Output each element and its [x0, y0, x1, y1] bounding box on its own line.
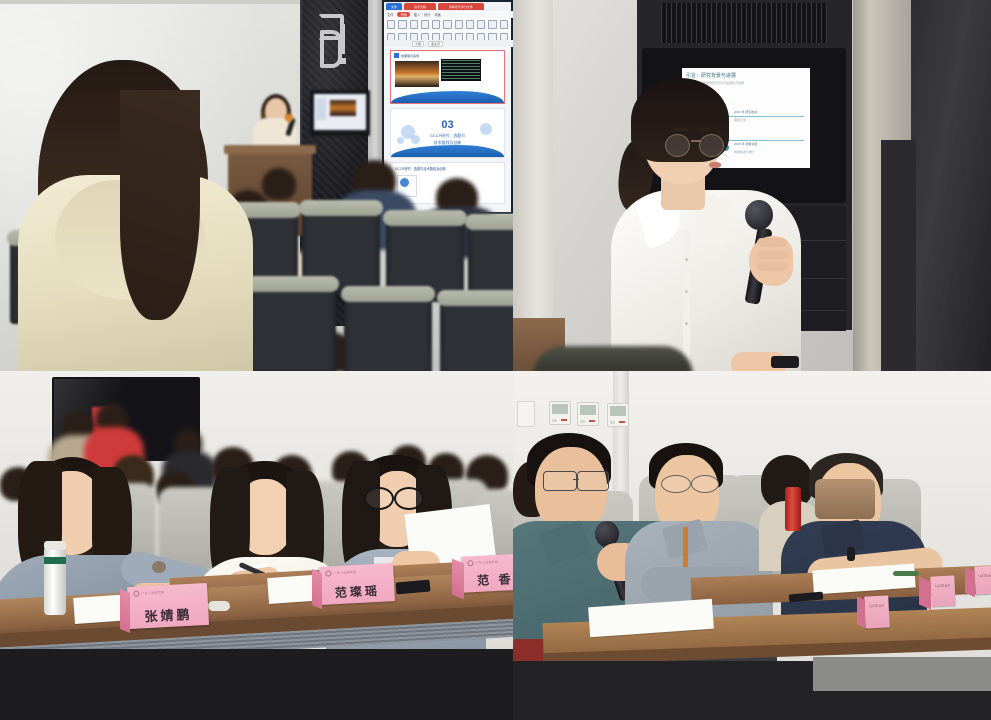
- thermostat-1-button[interactable]: [552, 419, 557, 422]
- ribbon-tab-active[interactable]: 开始: [397, 12, 409, 17]
- slide-code-thumb: [441, 59, 481, 81]
- slide-wave-decoration: [391, 91, 504, 103]
- auditorium-seat-7: [246, 282, 336, 371]
- nameplate-3-org: 广东工业研究院: [475, 560, 498, 565]
- ribbon-tab-4[interactable]: 动画: [435, 12, 441, 17]
- br-nameplate-1: \u00a0: [864, 595, 890, 628]
- finger-2: [757, 250, 789, 259]
- man-3-watch: [847, 547, 855, 561]
- thermos-label-band: [44, 557, 66, 564]
- thermostat-1[interactable]: [549, 401, 571, 425]
- slide-thumbnail-03[interactable]: 03 GCCP研究：选题与 技术路线及创新: [390, 108, 505, 158]
- thermostat-3-indicator: [619, 421, 625, 423]
- window-tab-doc2[interactable]: 评审表与评分文件: [438, 3, 484, 10]
- ribbon-icon-chart[interactable]: [500, 20, 508, 29]
- view-chip-outline[interactable]: 大纲: [412, 41, 424, 47]
- thermos-cap: [44, 541, 66, 550]
- tr-timeline-label-1: 2023 年 研究启动: [734, 110, 757, 115]
- ribbon-tab-3[interactable]: 设计: [424, 12, 430, 17]
- window-titlebar: 文件 演示文稿 评审表与评分文件: [384, 2, 511, 11]
- shirt-button-1: [685, 258, 688, 261]
- thermostat-1-indicator: [561, 419, 567, 421]
- ventilation-grille: [661, 3, 827, 43]
- shirt-button-2: [685, 290, 688, 293]
- slide-03-wave: [391, 145, 504, 157]
- ribbon-tab-2[interactable]: 插入: [414, 12, 420, 17]
- man-1-glasses-right: [577, 471, 609, 491]
- eyeglasses-right-lens: [699, 134, 724, 157]
- eyeglasses-on-table: [208, 601, 230, 611]
- presenter-mouth: [709, 162, 721, 168]
- thermostat-1-display: [552, 404, 568, 414]
- ribbon-tab-0[interactable]: 文件: [387, 12, 393, 17]
- presenter-brow-right: [697, 128, 710, 131]
- tr-timeline-label-2: 2025 年 成果总结: [734, 142, 757, 147]
- br-nameplate-2-fold: [919, 576, 931, 609]
- institute-logo-icon: [133, 590, 139, 596]
- nameplate-3-name: 范 香: [477, 570, 513, 589]
- nameplate-2-org: 广东工业研究院: [333, 570, 356, 575]
- panel-bottom-right: \u00a0 \u00a0 \u00a0: [513, 371, 991, 720]
- red-thermos: [785, 487, 801, 531]
- nameplate-2-logo: 广东工业研究院: [325, 569, 356, 577]
- man-2-glasses-right: [691, 475, 719, 493]
- nameplate-1-org: 广东工业研究院: [141, 590, 164, 595]
- gdi-logo-icon: [318, 10, 352, 70]
- thermostat-3-display: [610, 406, 626, 416]
- finger-1: [757, 238, 787, 247]
- nameplate-1-logo: 广东工业研究院: [133, 589, 164, 597]
- reviewer-3-glasses-right: [394, 487, 424, 510]
- ribbon-icon-font[interactable]: [398, 20, 406, 29]
- shirt-placket: [683, 230, 690, 371]
- eyeglasses-left-lens: [665, 134, 690, 157]
- nameplate-1-fold: [120, 589, 130, 633]
- tr-timeline-line-2: [726, 140, 804, 141]
- finger-3: [757, 262, 788, 271]
- slide-02-title: 成果展示案例: [401, 54, 419, 58]
- ribbon-icon-shape[interactable]: [466, 20, 474, 29]
- tr-timeline-note-1: 课题立项: [734, 118, 746, 123]
- slide-02-header: 成果展示案例: [394, 53, 419, 58]
- ribbon-icon-undo[interactable]: [443, 20, 451, 29]
- light-switch-plate[interactable]: [517, 401, 535, 427]
- slide-04-title: GCCP研究：选题与技术路线及创新: [395, 166, 446, 171]
- foreground-person-hair-side: [120, 90, 200, 320]
- photo-collage: 文件 演示文稿 评审表与评分文件 文件 开始 插入 设计 动画: [0, 0, 991, 720]
- dark-wall-right: [911, 0, 991, 371]
- slide-04-badge: [400, 178, 409, 187]
- reviewer-3-glasses-left: [364, 487, 394, 510]
- monitor-sidebar: [316, 98, 326, 120]
- audience-head-3: [262, 168, 296, 200]
- br-nameplate-1-fold: [857, 596, 865, 628]
- eyeglasses-bridge: [691, 140, 701, 142]
- microphone-head: [745, 200, 773, 230]
- shirt-button-3: [685, 322, 688, 325]
- panel-bottom-left: 广东工业研究院 张婧鹏 广东工业研究院 范璨瑶 广东工业研究院 范 香: [0, 371, 513, 720]
- nameplate-2: 广东工业研究院 范璨瑶: [319, 563, 395, 605]
- nameplate-3-fold: [452, 559, 464, 600]
- view-chip-notes[interactable]: 备注页: [428, 41, 443, 47]
- auditorium-seat-9: [440, 296, 513, 371]
- slide-bullet-icon: [394, 53, 399, 58]
- thermostat-2-button[interactable]: [580, 420, 585, 423]
- slide-03-line1: GCCP研究：选题与: [391, 133, 504, 139]
- panel-top-right: 引言：研究背景与进展 关于研究课题的研究背景与进展情况说明 2023 年 研究启…: [513, 0, 991, 371]
- thermostat-3-button[interactable]: [610, 421, 615, 424]
- nameplate-3: 广东工业研究院 范 香: [461, 553, 513, 592]
- ribbon-icon-bullets[interactable]: [432, 20, 440, 29]
- microphone-windscreen: [285, 114, 293, 122]
- panel-top-left: 文件 演示文稿 评审表与评分文件 文件 开始 插入 设计 动画: [0, 0, 513, 371]
- thermostat-2-indicator: [589, 420, 595, 422]
- thermostat-2[interactable]: [577, 402, 599, 426]
- br-nameplate-3-fold: [965, 567, 975, 597]
- slide-03-number: 03: [391, 119, 504, 131]
- ribbon-toolbar: [384, 18, 511, 41]
- ribbon-icon-align[interactable]: [421, 20, 429, 29]
- tr-timeline-line-1: [726, 116, 804, 117]
- br-nameplate-2: \u00a0: [930, 575, 956, 606]
- tr-slide-title: 引言：研究背景与进展: [686, 72, 736, 79]
- slide-photo-thumb: [395, 61, 439, 87]
- nameplate-1-name: 张婧鹏: [144, 604, 193, 625]
- nameplate-2-name: 范璨瑶: [334, 582, 380, 601]
- thermostat-3[interactable]: [607, 403, 629, 427]
- br-floor: [813, 657, 991, 691]
- nameplate-2-fold: [312, 569, 322, 609]
- man-1-glasses-left: [543, 471, 577, 491]
- monitor-slide-thumb: [330, 100, 356, 116]
- window-tab-doc1[interactable]: 演示文稿: [404, 3, 436, 10]
- foreground-foliage: [533, 346, 693, 371]
- nameplate-3-logo: 广东工业研究院: [467, 559, 498, 567]
- br-nameplate-3: \u00a0: [974, 565, 991, 594]
- ribbon-icon-redo[interactable]: [455, 20, 463, 29]
- handbag: [815, 479, 875, 519]
- dark-wall-strip: [881, 140, 916, 371]
- ribbon-icon-table[interactable]: [488, 20, 496, 29]
- window-tab-file[interactable]: 文件: [386, 3, 402, 10]
- man-2-glasses-left: [661, 475, 691, 493]
- nameplate-1: 广东工业研究院 张婧鹏: [127, 583, 209, 629]
- man-1-glasses-bridge: [573, 479, 579, 480]
- ribbon-icon-picture[interactable]: [477, 20, 485, 29]
- thermostat-2-display: [580, 405, 596, 415]
- presentation-remote: [771, 356, 799, 368]
- ribbon-tabs: 文件 开始 插入 设计 动画: [384, 11, 513, 18]
- institute-logo-icon: [325, 570, 331, 576]
- reviewer-1-bracelet: [152, 561, 166, 573]
- confidence-monitor: [310, 90, 370, 136]
- under-table-shadow: [0, 649, 513, 720]
- tr-timeline-note-2: 成果验收与推广: [734, 150, 755, 155]
- presenter-brow-left: [673, 128, 689, 131]
- wall-pillar-left: [513, 0, 553, 371]
- br-pen: [893, 571, 919, 576]
- ribbon-icon-paste[interactable]: [387, 20, 395, 29]
- auditorium-seat-8: [344, 292, 432, 371]
- institute-logo-icon: [467, 560, 473, 566]
- slide-thumbnail-02[interactable]: 成果展示案例: [390, 50, 505, 104]
- ribbon-icon-bold[interactable]: [410, 20, 418, 29]
- view-chip-bar: 大纲 备注页: [384, 40, 513, 47]
